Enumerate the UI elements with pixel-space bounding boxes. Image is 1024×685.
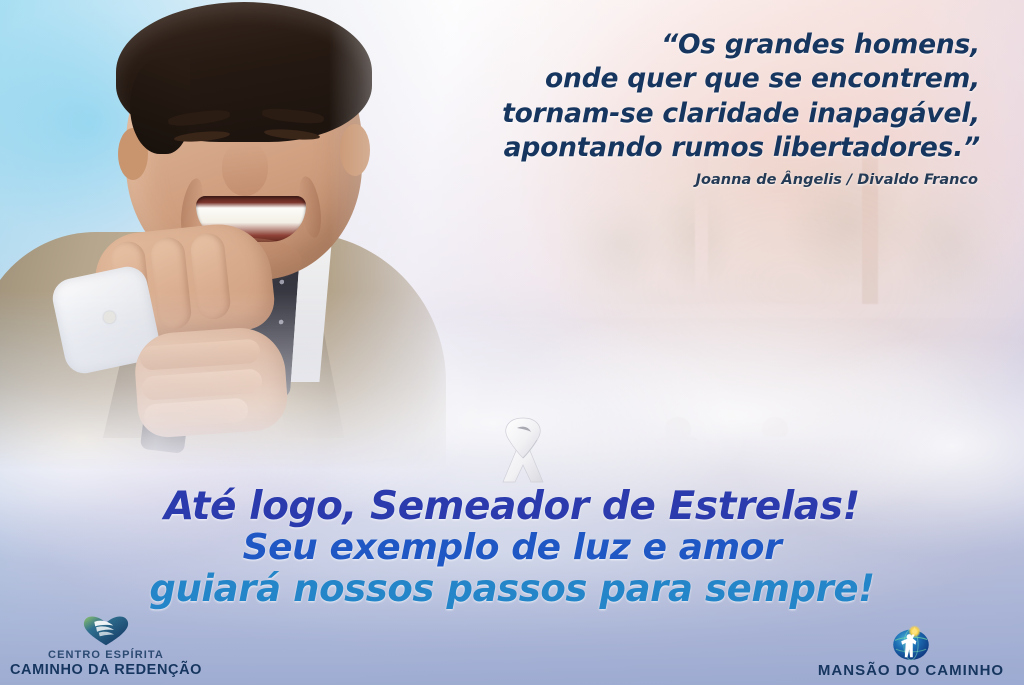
quote-line-1: “Os grandes homens,	[420, 28, 980, 62]
heart-hands-icon	[6, 611, 206, 649]
hand-holding-microphone	[133, 325, 290, 439]
quote-line-2: onde quer que se encontrem,	[420, 62, 980, 96]
globe-torch-figure-icon	[806, 624, 1016, 662]
portrait-divaldo-franco	[0, 0, 470, 470]
mourning-ribbon-icon	[487, 408, 559, 486]
logo-left-line-2: CAMINHO DA REDENÇÃO	[6, 662, 206, 679]
hair	[116, 2, 372, 142]
headline-line-2: Seu exemplo de luz e amor	[0, 528, 1024, 568]
quote-line-4: apontando rumos libertadores.”	[420, 131, 980, 165]
logo-centro-espirita-caminho-da-redencao: CENTRO ESPÍRITA CAMINHO DA REDENÇÃO	[6, 611, 206, 679]
memorial-poster: “Os grandes homens, onde quer que se enc…	[0, 0, 1024, 685]
logo-right-line-2: MANSÃO DO CAMINHO	[806, 662, 1016, 679]
quote-block: “Os grandes homens, onde quer que se enc…	[420, 28, 980, 166]
headline-line-1: Até logo, Semeador de Estrelas!	[0, 486, 1024, 528]
quote-line-3: tornam-se claridade inapagável,	[420, 97, 980, 131]
headline-line-3: guiará nossos passos para sempre!	[0, 568, 1024, 609]
logo-left-line-1: CENTRO ESPÍRITA	[6, 649, 206, 662]
headline-block: Até logo, Semeador de Estrelas! Seu exem…	[0, 486, 1024, 609]
quote-attribution: Joanna de Ângelis / Divaldo Franco	[418, 172, 978, 188]
logo-mansao-do-caminho: MANSÃO DO CAMINHO	[806, 624, 1016, 679]
